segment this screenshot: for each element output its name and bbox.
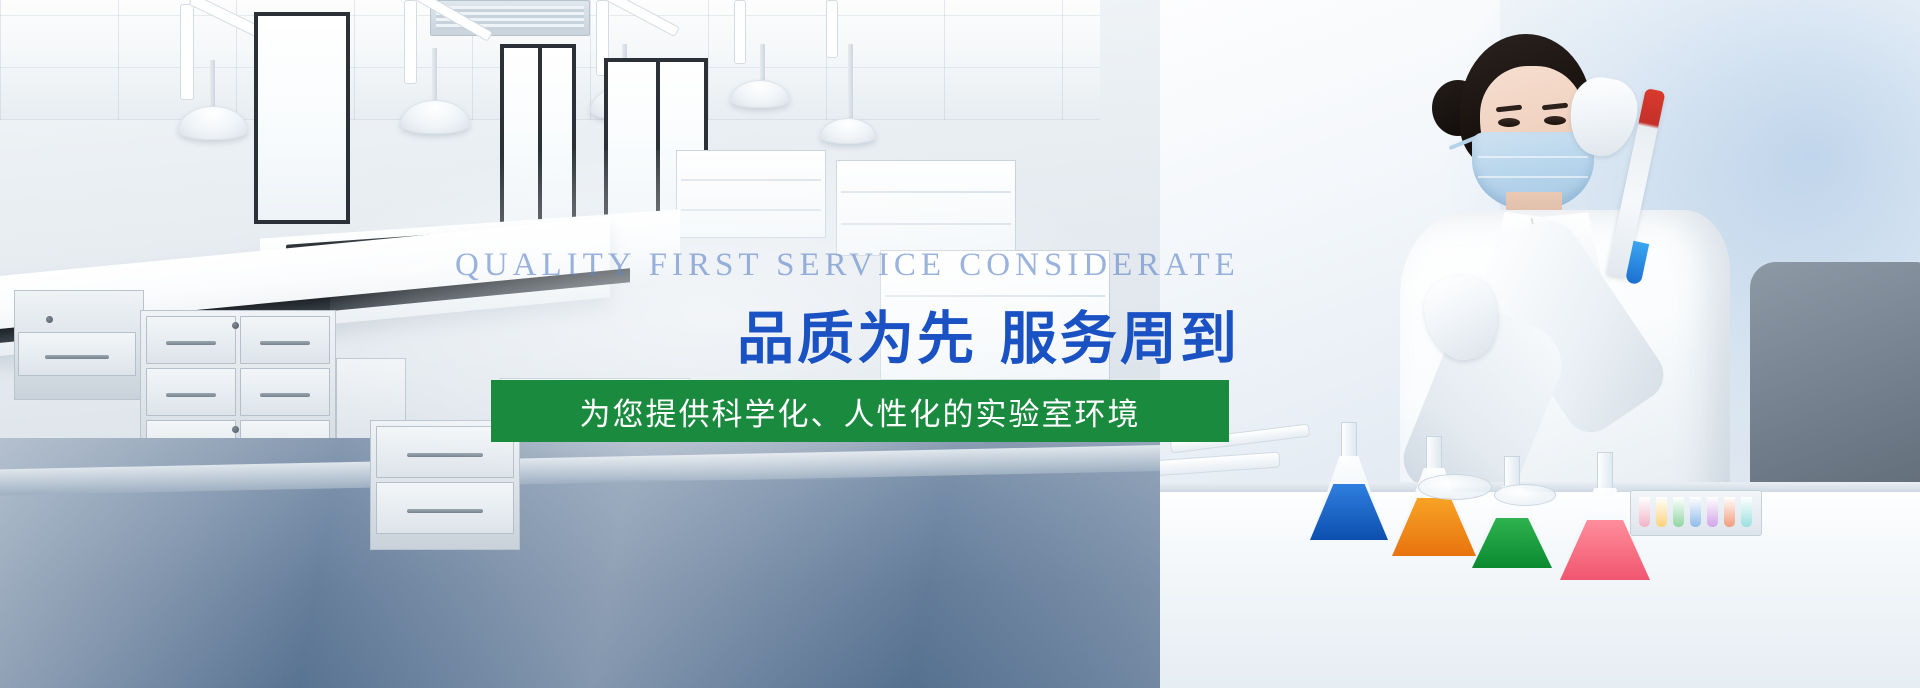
drawer [376, 482, 514, 534]
test-tube-rack [1630, 490, 1762, 536]
drawer [240, 368, 330, 416]
eye [1498, 118, 1520, 127]
erlenmeyer-flask-blue [1310, 422, 1388, 540]
lamp-stem [210, 60, 215, 110]
extraction-arm [826, 0, 838, 58]
drawer [146, 368, 236, 416]
test-tube [1673, 497, 1684, 527]
cabinet-lock-icon [232, 322, 239, 329]
erlenmeyer-flask-green [1472, 456, 1552, 568]
test-tube [1690, 497, 1701, 527]
cabinet-lock-icon [232, 426, 239, 433]
scientist-scene [1160, 0, 1920, 688]
drawer [18, 332, 136, 376]
test-tube [1707, 497, 1718, 527]
extraction-arm [404, 0, 417, 84]
extraction-arm [180, 4, 194, 100]
lamp-shade [820, 118, 876, 144]
test-tube [1741, 497, 1752, 527]
extraction-arm [734, 0, 746, 64]
cabinet-lock-icon [46, 316, 53, 323]
text-haze-overlay [330, 150, 1090, 480]
hero-banner: QUALITY FIRST SERVICE CONSIDERATE 品质为先 服… [0, 0, 1920, 688]
petri-dish [1418, 474, 1492, 500]
drawer [146, 316, 236, 364]
lamp-stem [848, 44, 853, 126]
eye [1544, 116, 1566, 125]
test-tube [1656, 497, 1667, 527]
test-tube [1724, 497, 1735, 527]
lamp-stem [432, 48, 437, 104]
drawer [240, 316, 330, 364]
petri-dish [1494, 484, 1556, 506]
test-tube [1639, 497, 1650, 527]
